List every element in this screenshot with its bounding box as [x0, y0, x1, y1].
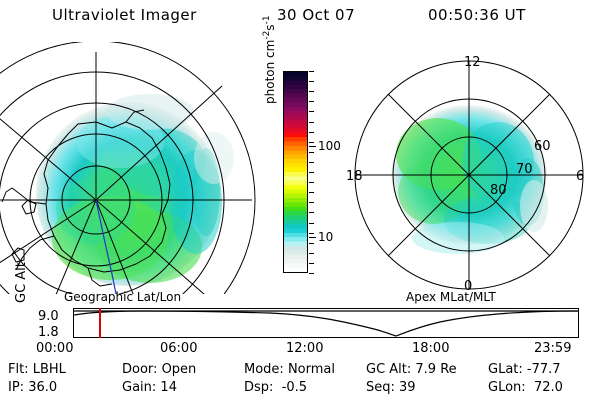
colorbar-minor-tick: [309, 263, 314, 264]
observation-date: 30 Oct 07: [277, 6, 355, 24]
colorbar-minor-tick: [309, 122, 314, 123]
colorbar-minor-tick: [309, 192, 314, 193]
colorbar-minor-tick: [309, 253, 314, 254]
orbit-altitude-curve: [74, 309, 578, 337]
mlat-label-80: 80: [490, 183, 507, 198]
aurora-image: [36, 94, 234, 286]
colorbar-minor-tick: [309, 212, 314, 213]
colorbar-minor-tick: [309, 243, 314, 244]
colorbar-gradient: [284, 72, 307, 272]
status-row-2: IP: 36.0 Gain: 14 Dsp: -0.5 Seq: 39 GLon…: [0, 380, 600, 398]
mlt-label-12: 12: [464, 55, 481, 70]
mlt-label-6: 6: [576, 169, 584, 184]
status-gain: Gain: 14: [122, 380, 177, 395]
time-tick-2359: 23:59: [534, 341, 571, 356]
colorbar-axis-label: photon cm-2s-1: [262, 88, 277, 104]
mlt-label-18: 18: [346, 169, 363, 184]
orbit-altitude-plot: [73, 308, 579, 338]
gcalt-tick-low: 1.8: [38, 326, 59, 339]
geographic-panel-caption: Geographic Lat/Lon: [64, 290, 181, 304]
mlt-panel: 12 18 6 0 60 70 80: [338, 42, 600, 294]
colorbar-minor-tick: [309, 81, 314, 82]
uvi-display: Ultraviolet Imager 30 Oct 07 00:50:36 UT: [0, 0, 600, 400]
geographic-map: [0, 42, 262, 294]
current-time-marker: [99, 308, 101, 338]
time-tick-0600: 06:00: [160, 341, 197, 356]
mlat-label-60: 60: [534, 139, 551, 154]
status-ip: IP: 36.0: [8, 380, 57, 395]
colorbar-minor-tick: [309, 233, 314, 234]
time-tick-1200: 12:00: [286, 341, 323, 356]
colorbar-minor-tick: [309, 132, 314, 133]
status-gcalt: GC Alt: 7.9 Re: [366, 362, 457, 377]
status-door: Door: Open: [122, 362, 196, 377]
instrument-title: Ultraviolet Imager: [52, 6, 197, 24]
mlat-label-70: 70: [516, 162, 533, 177]
time-tick-1800: 18:00: [412, 341, 449, 356]
colorbar-major-tick: [309, 146, 316, 147]
colorbar-minor-tick: [309, 202, 314, 203]
observation-time: 00:50:36 UT: [428, 6, 526, 24]
colorbar-minor-tick: [309, 162, 314, 163]
status-row-1: Flt: LBHL Door: Open Mode: Normal GC Alt…: [0, 362, 600, 380]
status-glon: GLon: 72.0: [488, 380, 563, 395]
colorbar-minor-tick: [309, 273, 314, 274]
geographic-panel: [0, 42, 262, 294]
mlt-panel-caption: Apex MLat/MLT: [406, 290, 496, 304]
colorbar-minor-tick: [309, 182, 314, 183]
mlt-spokes: [355, 61, 583, 289]
status-mode: Mode: Normal: [244, 362, 335, 377]
status-dsp: Dsp: -0.5: [244, 380, 307, 395]
status-glat: GLat: -77.7: [488, 362, 561, 377]
colorbar-minor-tick: [309, 101, 314, 102]
gcalt-axis-label: GC Alt: [14, 262, 29, 303]
colorbar-minor-tick: [309, 223, 314, 224]
status-flt: Flt: LBHL: [8, 362, 66, 377]
colorbar-tick-label: 10: [318, 231, 333, 243]
gcalt-tick-high: 9.0: [38, 310, 59, 323]
colorbar-major-tick: [309, 237, 316, 238]
colorbar-minor-tick: [309, 152, 314, 153]
colorbar-minor-tick: [309, 111, 314, 112]
colorbar-minor-tick: [309, 142, 314, 143]
colorbar-minor-tick: [309, 172, 314, 173]
status-block: Flt: LBHL Door: Open Mode: Normal GC Alt…: [0, 362, 600, 398]
time-tick-0000: 00:00: [36, 341, 73, 356]
colorbar-minor-tick: [309, 71, 314, 72]
colorbar-minor-tick: [309, 91, 314, 92]
status-seq: Seq: 39: [366, 380, 416, 395]
colorbar: [283, 71, 308, 273]
mlt-dial: 12 18 6 0 60 70 80: [338, 42, 600, 294]
